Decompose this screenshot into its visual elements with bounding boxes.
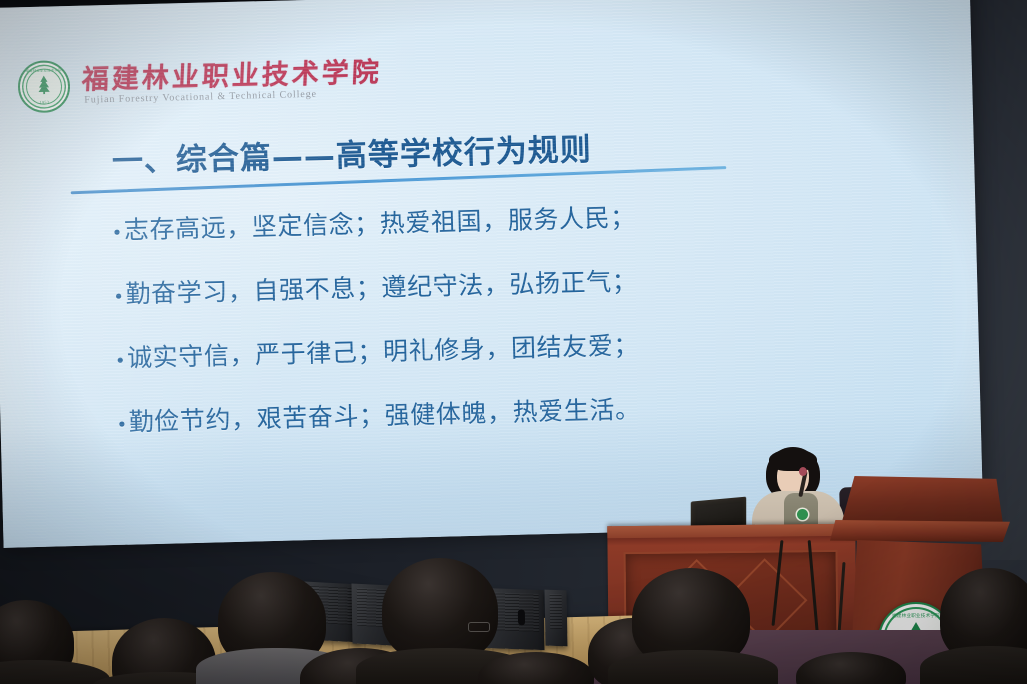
bullet-dot-icon: • xyxy=(112,225,124,243)
eyeglasses-icon xyxy=(468,622,490,632)
lectern-ledge xyxy=(830,520,1010,542)
college-name-chinese: 福建林业职业技术学院 xyxy=(81,59,382,94)
microphone-head-icon xyxy=(799,467,807,476)
lectern-top xyxy=(838,476,1003,524)
speaker-grille xyxy=(550,594,563,630)
desk-top-surface xyxy=(607,524,855,539)
pine-tree-icon xyxy=(33,73,56,96)
slide-branding-header: 福建林业职业技术学院 1953 福建林业职业技术学院 Fujian Forest… xyxy=(17,52,382,113)
bullet-dot-icon: • xyxy=(116,417,128,435)
speaker-port xyxy=(518,610,525,626)
lecture-hall-photo: 福建林业职业技术学院 1953 福建林业职业技术学院 Fujian Forest… xyxy=(0,0,1027,684)
audience-head xyxy=(382,558,498,662)
list-item: • 勤奋学习，自强不息；遵纪守法，弘扬正气； xyxy=(113,259,734,311)
slide-bullet-list: • 志存高远，坚定信念；热爱祖国，服务人民； • 勤奋学习，自强不息；遵纪守法，… xyxy=(111,195,737,467)
bullet-text: 勤俭节约，艰苦奋斗；强健体魄，热爱生活。 xyxy=(128,390,641,439)
bullet-dot-icon: • xyxy=(115,353,127,371)
stage-monitor-speaker xyxy=(545,590,568,647)
list-item: • 诚实守信，严于律己；明礼修身，团结友爱； xyxy=(114,323,735,375)
college-seal-icon: 福建林业职业技术学院 1953 xyxy=(17,60,70,113)
bullet-dot-icon: • xyxy=(113,289,125,307)
presenter xyxy=(752,447,842,535)
seal-arc-label: 福建林业职业技术学院 xyxy=(20,67,68,73)
seal-year-label: 1953 xyxy=(20,99,68,105)
presenter-badge xyxy=(797,509,808,520)
bullet-text: 诚实守信，严于律己；明礼修身，团结友爱； xyxy=(127,326,640,375)
audience-shoulders xyxy=(608,650,778,684)
brand-text-block: 福建林业职业技术学院 Fujian Forestry Vocational & … xyxy=(82,59,383,106)
bullet-text: 勤奋学习，自强不息；遵纪守法，弘扬正气； xyxy=(125,262,638,311)
presenter-fringe xyxy=(769,449,817,471)
list-item: • 勤俭节约，艰苦奋斗；强健体魄，热爱生活。 xyxy=(116,387,737,439)
